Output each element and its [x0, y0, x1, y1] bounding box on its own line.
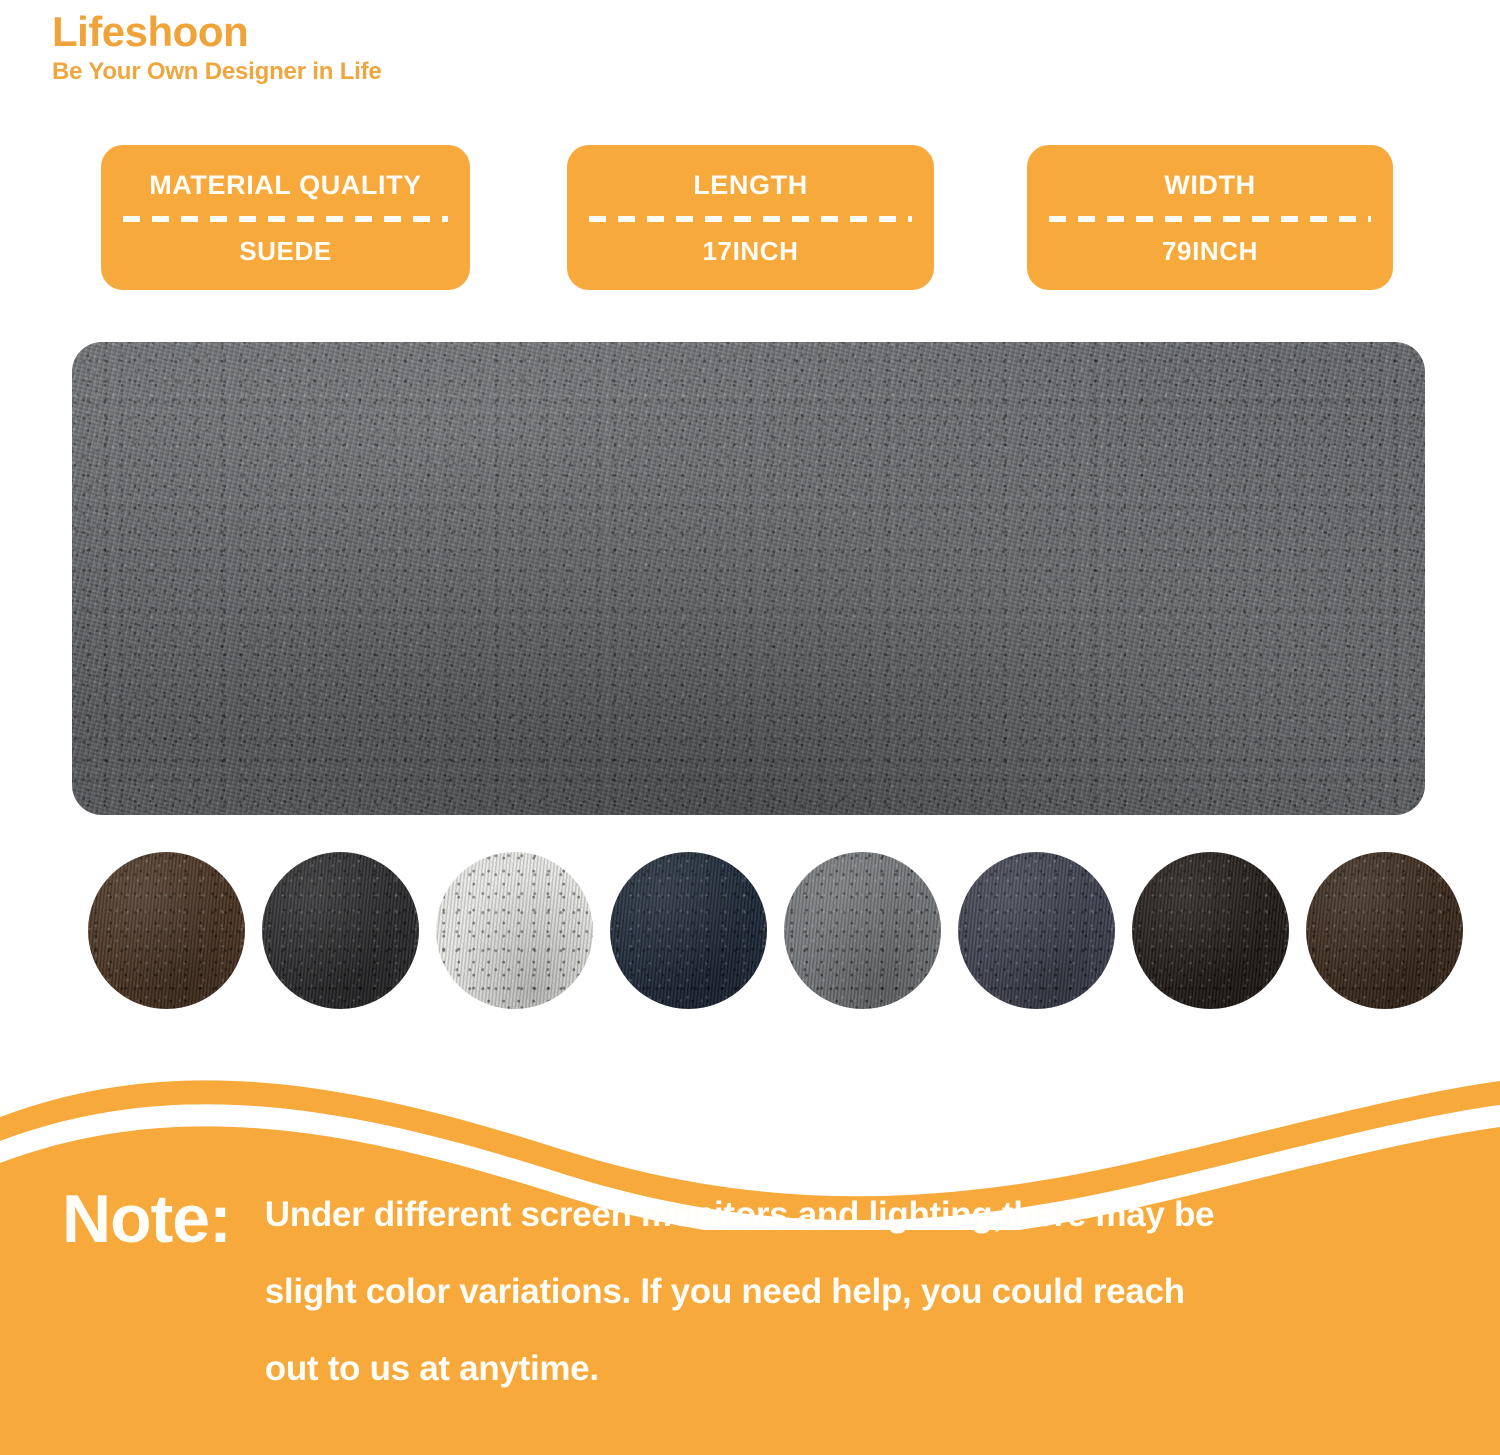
product-rug-image [72, 342, 1425, 815]
note-label: Note: [62, 1185, 231, 1253]
color-swatch-chocolate-brown[interactable] [1306, 852, 1463, 1009]
swatch-shading [958, 852, 1115, 1009]
rug-texture-shading [72, 342, 1425, 815]
spec-badge-label: MATERIAL QUALITY [149, 172, 422, 199]
spec-badge-row: MATERIAL QUALITY SUEDE LENGTH 17INCH WID… [0, 145, 1500, 290]
color-swatch-slate-blue-gray[interactable] [958, 852, 1115, 1009]
brand-tagline: Be Your Own Designer in Life [52, 58, 752, 87]
spec-badge-value: 17INCH [702, 238, 798, 264]
color-swatch-dark-brown[interactable] [88, 852, 245, 1009]
swatch-shading [262, 852, 419, 1009]
note-text-block: Under different screen monitors and ligh… [265, 1197, 1500, 1386]
color-swatch-medium-gray[interactable] [784, 852, 941, 1009]
spec-badge-value: SUEDE [239, 238, 332, 264]
dashed-divider-icon [1049, 216, 1371, 222]
note-footer: Note: Under different screen monitors an… [0, 1075, 1500, 1455]
spec-badge-width: WIDTH 79INCH [1027, 145, 1393, 290]
color-swatch-row [0, 852, 1500, 1012]
color-swatch-navy-blue[interactable] [610, 852, 767, 1009]
spec-badge-material-quality: MATERIAL QUALITY SUEDE [101, 145, 470, 290]
spec-badge-length: LENGTH 17INCH [567, 145, 934, 290]
spec-badge-value: 79INCH [1162, 238, 1258, 264]
brand-name: Lifeshoon [52, 8, 752, 56]
note-content: Note: Under different screen monitors an… [0, 1185, 1500, 1455]
dashed-divider-icon [589, 216, 912, 222]
note-line: out to us at anytime. [265, 1351, 1500, 1386]
spec-badge-label: LENGTH [693, 172, 808, 199]
color-swatch-off-white-cream[interactable] [436, 852, 593, 1009]
spec-badge-label: WIDTH [1164, 172, 1255, 199]
color-swatch-charcoal-black[interactable] [262, 852, 419, 1009]
swatch-shading [784, 852, 941, 1009]
swatch-shading [1306, 852, 1463, 1009]
swatch-shading [88, 852, 245, 1009]
swatch-shading [436, 852, 593, 1009]
color-swatch-near-black-brown[interactable] [1132, 852, 1289, 1009]
swatch-shading [1132, 852, 1289, 1009]
note-line: slight color variations. If you need hel… [265, 1274, 1500, 1309]
note-line: Under different screen monitors and ligh… [265, 1197, 1500, 1232]
swatch-shading [610, 852, 767, 1009]
brand-header: Lifeshoon Be Your Own Designer in Life [52, 8, 752, 87]
dashed-divider-icon [123, 216, 448, 222]
